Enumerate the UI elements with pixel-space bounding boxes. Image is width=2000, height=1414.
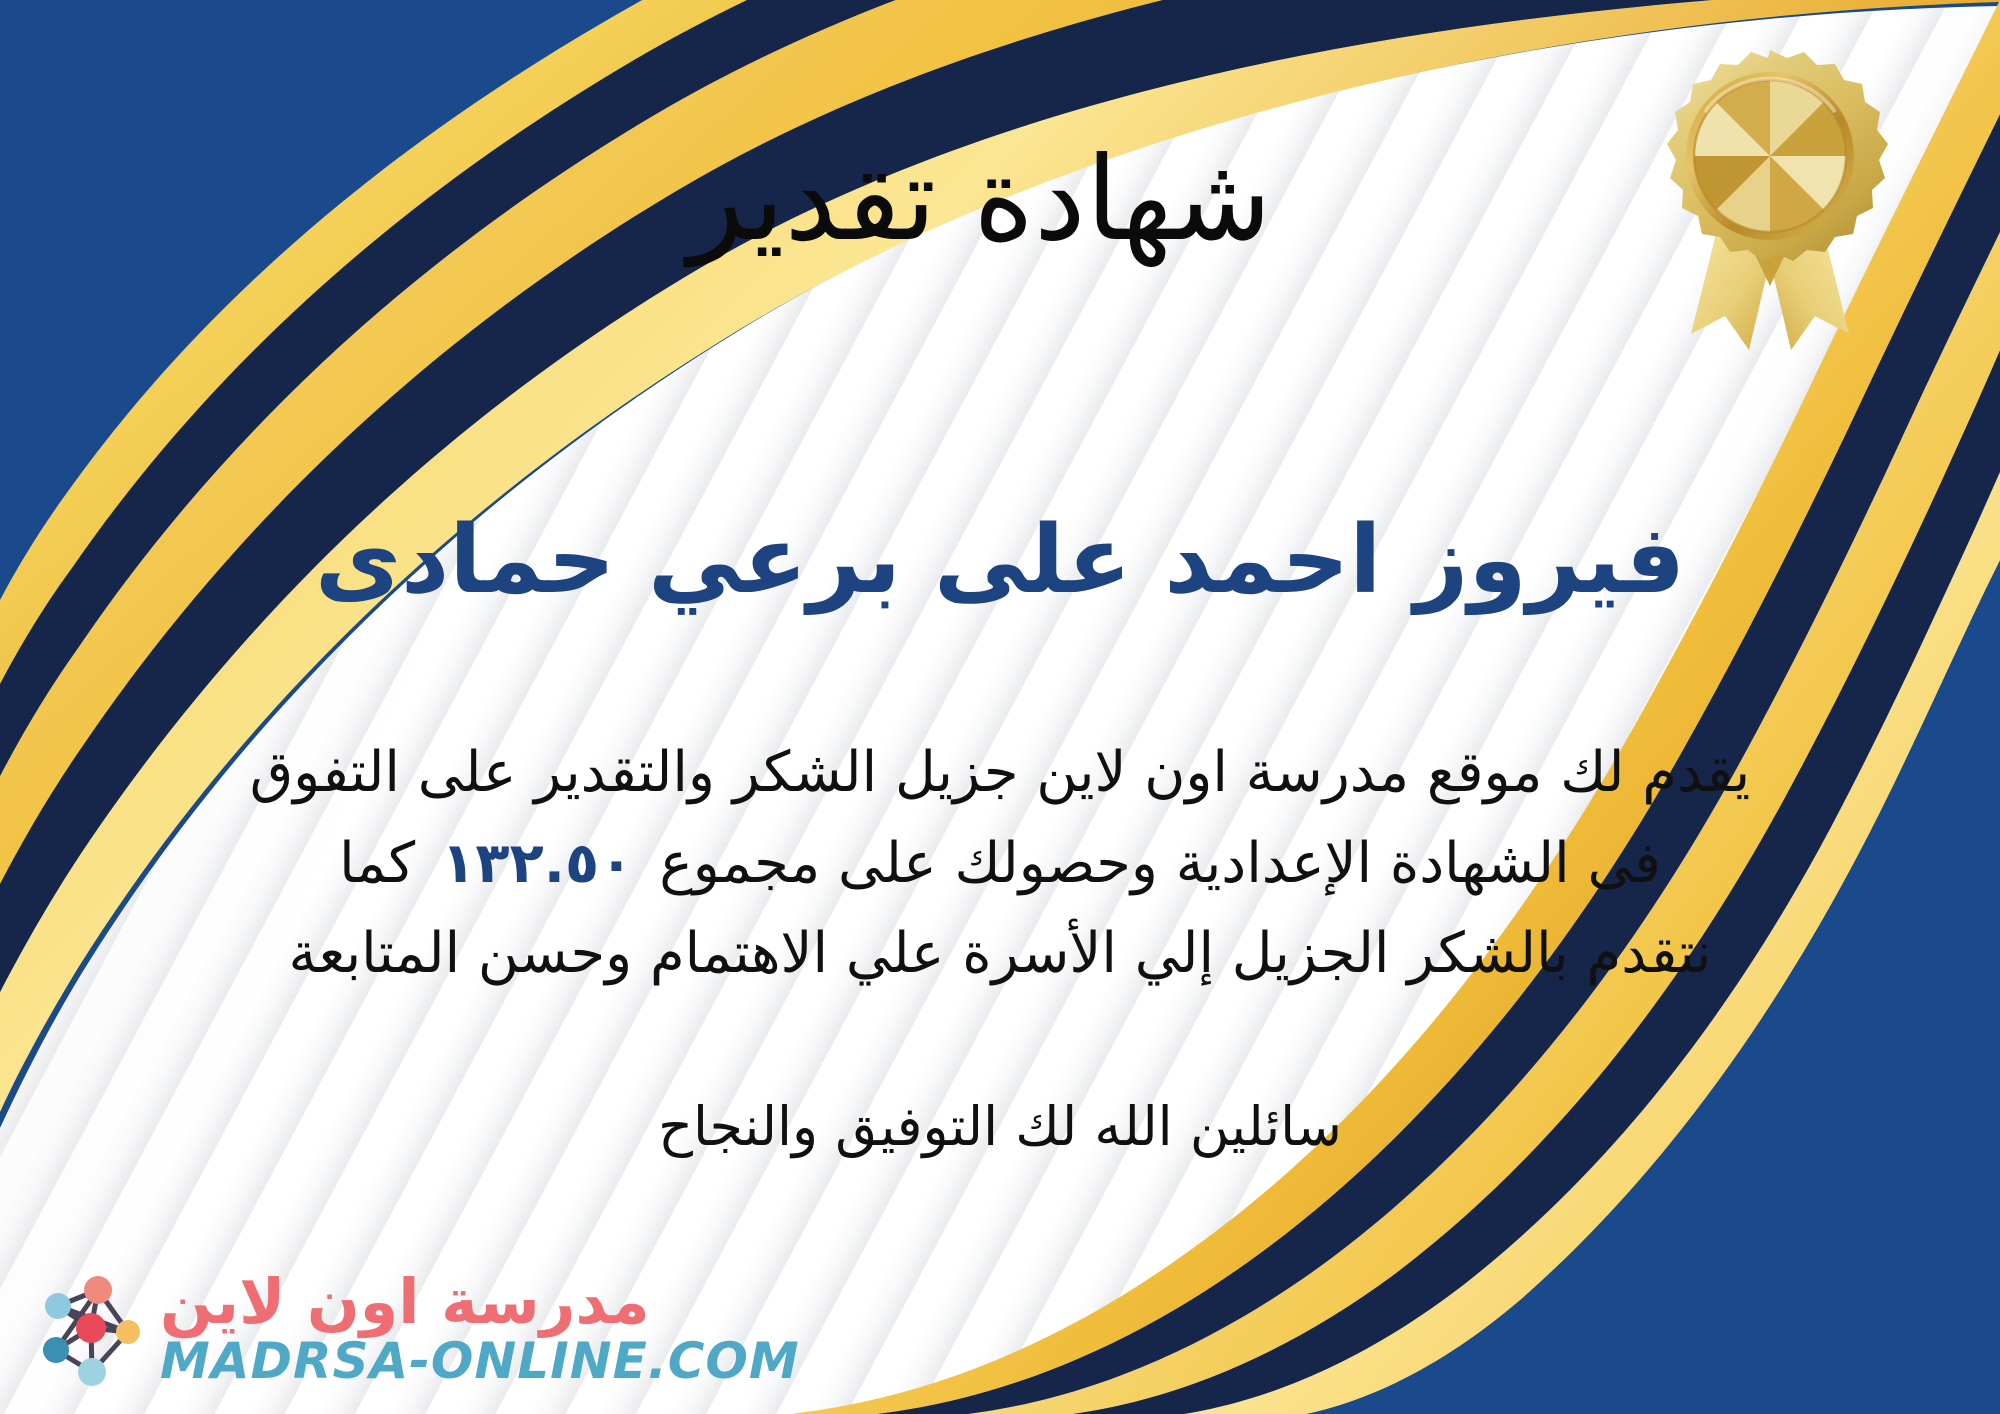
- certificate-page: شهادة تقدير فيروز احمد على برعي حمادى يق…: [0, 0, 2000, 1414]
- body-line-3: نتقدم بالشكر الجزيل إلي الأسرة علي الاهت…: [60, 909, 1940, 1000]
- body-line-2-prefix: فى الشهادة الإعدادية وحصولك على مجموع: [659, 831, 1661, 896]
- brand-website: MADRSA-ONLINE.COM: [160, 1335, 800, 1388]
- body-line-2: فى الشهادة الإعدادية وحصولك على مجموع١٣٢…: [60, 819, 1940, 910]
- certificate-content: شهادة تقدير فيروز احمد على برعي حمادى يق…: [0, 0, 2000, 1414]
- brand-text: مدرسة اون لاين MADRSA-ONLINE.COM: [160, 1270, 800, 1387]
- recipient-name: فيروز احمد على برعي حمادى: [0, 508, 2000, 613]
- brand-logo[interactable]: مدرسة اون لاين MADRSA-ONLINE.COM: [34, 1268, 800, 1390]
- body-line-1: يقدم لك موقع مدرسة اون لاين جزيل الشكر و…: [60, 728, 1940, 819]
- grade-total-value: ١٣٢.٥٠: [415, 831, 659, 896]
- body-line-2-suffix: كما: [339, 831, 415, 896]
- page-title: شهادة تقدير: [0, 136, 2000, 264]
- brand-arabic-name: مدرسة اون لاين: [160, 1270, 650, 1334]
- network-nodes-icon: [34, 1268, 146, 1390]
- certificate-body: يقدم لك موقع مدرسة اون لاين جزيل الشكر و…: [60, 728, 1940, 1000]
- closing-wish: سائلين الله لك التوفيق والنجاح: [0, 1086, 2000, 1167]
